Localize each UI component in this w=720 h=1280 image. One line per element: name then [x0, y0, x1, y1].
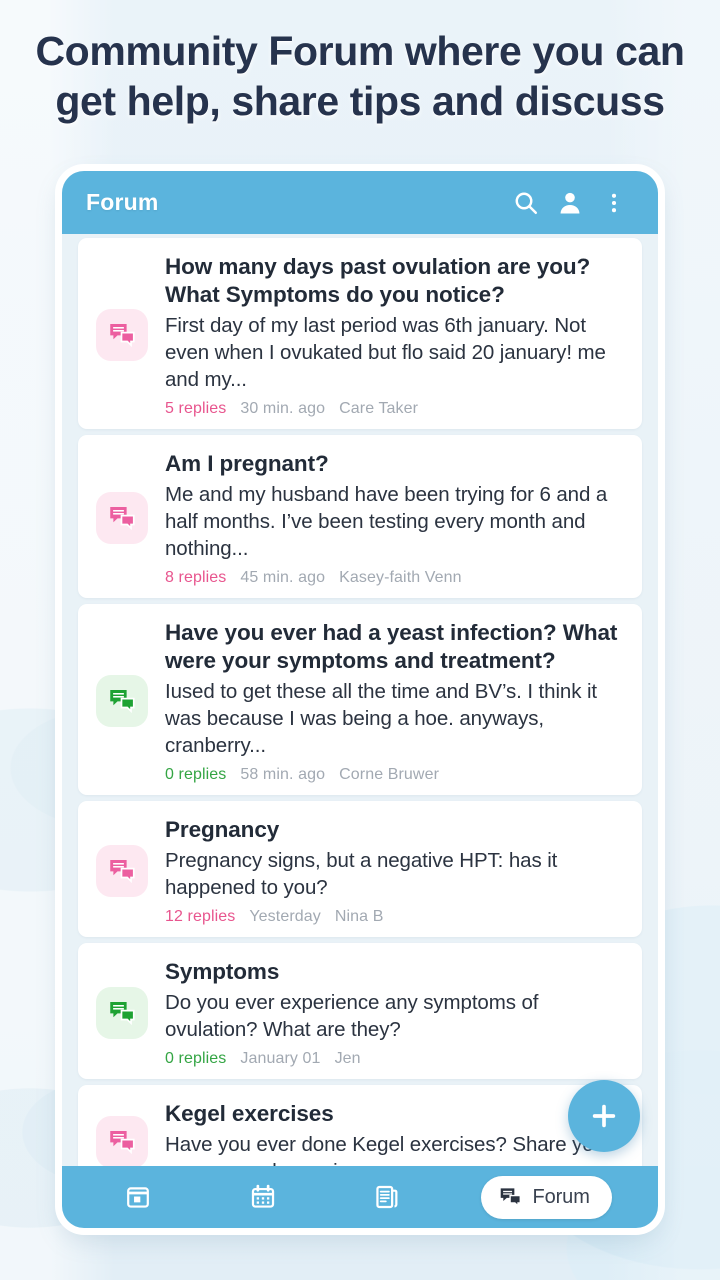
forum-post-title: Kegel exercises	[165, 1100, 624, 1128]
phone-mockup: Forum How man	[62, 171, 658, 1228]
forum-post-item-3[interactable]: Have you ever had a yeast infection? Wha…	[78, 604, 642, 795]
chat-bubbles-icon	[96, 675, 148, 727]
forum-post-meta: 8 replies 45 min. ago Kasey-faith Venn	[165, 569, 624, 587]
forum-post-snippet: Have you ever done Kegel exercises? Shar…	[165, 1131, 624, 1166]
forum-post-body: Have you ever had a yeast infection? Wha…	[165, 618, 624, 784]
create-post-fab[interactable]	[568, 1080, 640, 1152]
forum-post-snippet: Iused to get these all the time and BV’s…	[165, 678, 624, 759]
bottom-nav-item-1[interactable]	[108, 1173, 168, 1221]
bottom-nav-item-3[interactable]	[357, 1173, 417, 1221]
chat-bubbles-icon	[96, 845, 148, 897]
forum-post-body: Am I pregnant? Me and my husband have be…	[165, 449, 624, 587]
forum-post-author: Jen	[335, 1050, 361, 1068]
person-icon[interactable]	[548, 181, 592, 225]
forum-post-meta: 0 replies January 01 Jen	[165, 1050, 624, 1068]
forum-post-meta: 12 replies Yesterday Nina B	[165, 908, 624, 926]
forum-post-body: Kegel exercises Have you ever done Kegel…	[165, 1099, 624, 1166]
forum-post-timestamp: 45 min. ago	[240, 569, 325, 587]
forum-post-timestamp: Yesterday	[249, 908, 320, 926]
forum-post-meta: 5 replies 30 min. ago Care Taker	[165, 400, 624, 418]
bottom-navigation-bar: Forum	[62, 1166, 658, 1228]
page-title-line-1: Community Forum where you can	[22, 26, 698, 76]
forum-post-author: Corne Bruwer	[339, 766, 439, 784]
forum-post-reply-count: 0 replies	[165, 766, 226, 784]
forum-post-title: Pregnancy	[165, 816, 624, 844]
page-title-line-2: get help, share tips and discuss	[22, 76, 698, 126]
bottom-nav-item-forum[interactable]: Forum	[481, 1176, 611, 1219]
forum-post-author: Nina B	[335, 908, 384, 926]
forum-post-item-6[interactable]: Kegel exercises Have you ever done Kegel…	[78, 1085, 642, 1166]
forum-post-body: How many days past ovulation are you? Wh…	[165, 252, 624, 418]
forum-post-list[interactable]: How many days past ovulation are you? Wh…	[62, 234, 658, 1166]
forum-post-reply-count: 0 replies	[165, 1050, 226, 1068]
forum-post-reply-count: 8 replies	[165, 569, 226, 587]
forum-post-reply-count: 12 replies	[165, 908, 235, 926]
forum-post-snippet: First day of my last period was 6th janu…	[165, 312, 624, 393]
forum-post-timestamp: 30 min. ago	[240, 400, 325, 418]
forum-post-item-2[interactable]: Am I pregnant? Me and my husband have be…	[78, 435, 642, 598]
search-icon[interactable]	[504, 181, 548, 225]
forum-post-item-4[interactable]: Pregnancy Pregnancy signs, but a negativ…	[78, 801, 642, 937]
forum-post-title: How many days past ovulation are you? Wh…	[165, 253, 624, 309]
chat-bubbles-icon	[96, 1116, 148, 1166]
forum-post-title: Am I pregnant?	[165, 450, 624, 478]
forum-post-snippet: Do you ever experience any symptoms of o…	[165, 989, 624, 1043]
forum-post-body: Pregnancy Pregnancy signs, but a negativ…	[165, 815, 624, 926]
chat-bubbles-icon	[498, 1185, 523, 1210]
forum-post-meta: 0 replies 58 min. ago Corne Bruwer	[165, 766, 624, 784]
calendar-icon	[249, 1183, 277, 1211]
bottom-nav-item-2[interactable]	[233, 1173, 293, 1221]
report-icon	[373, 1183, 401, 1211]
chat-bubbles-icon	[96, 492, 148, 544]
overflow-menu-icon[interactable]	[592, 181, 636, 225]
forum-post-snippet: Pregnancy signs, but a negative HPT: has…	[165, 847, 624, 901]
forum-post-timestamp: January 01	[240, 1050, 320, 1068]
forum-post-author: Care Taker	[339, 400, 418, 418]
app-bar: Forum	[62, 171, 658, 234]
chat-bubbles-icon	[96, 987, 148, 1039]
page-title: Community Forum where you can get help, …	[0, 26, 720, 126]
forum-post-snippet: Me and my husband have been trying for 6…	[165, 481, 624, 562]
forum-post-title: Symptoms	[165, 958, 624, 986]
forum-post-timestamp: 58 min. ago	[240, 766, 325, 784]
chat-bubbles-icon	[96, 309, 148, 361]
today-note-icon	[124, 1183, 152, 1211]
forum-post-item-5[interactable]: Symptoms Do you ever experience any symp…	[78, 943, 642, 1079]
forum-post-author: Kasey-faith Venn	[339, 569, 462, 587]
forum-post-body: Symptoms Do you ever experience any symp…	[165, 957, 624, 1068]
forum-post-reply-count: 5 replies	[165, 400, 226, 418]
bottom-nav-label-forum: Forum	[532, 1186, 589, 1209]
app-bar-title: Forum	[86, 189, 504, 216]
forum-post-title: Have you ever had a yeast infection? Wha…	[165, 619, 624, 675]
forum-post-item-1[interactable]: How many days past ovulation are you? Wh…	[78, 238, 642, 429]
